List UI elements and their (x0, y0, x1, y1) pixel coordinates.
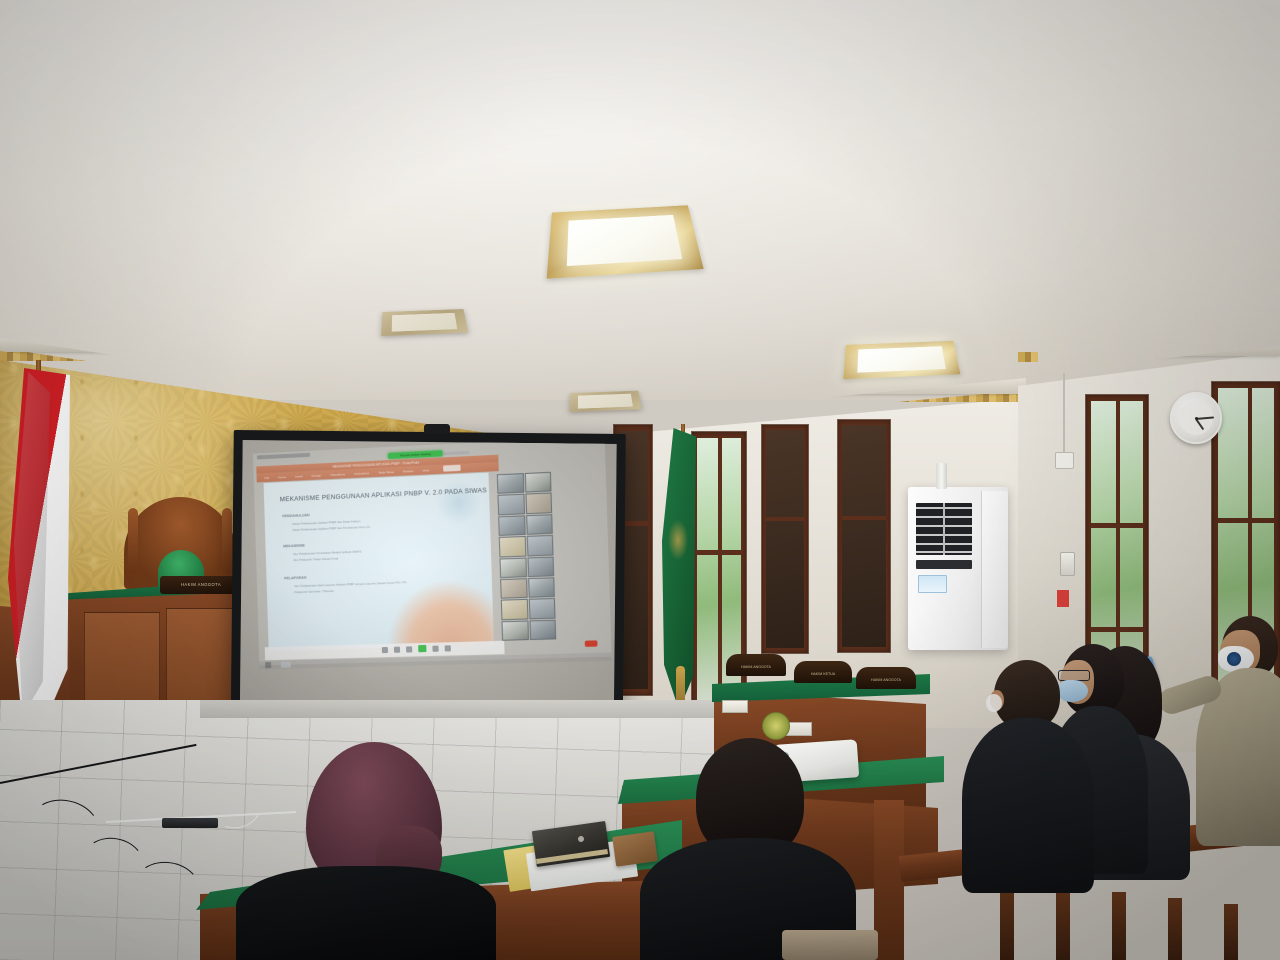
nameplate-hakim-anggota-text: HAKIM ANGGOTA (162, 582, 240, 587)
nameplate-left-text: HAKIM ANGGOTA (727, 665, 785, 669)
person-dark-shirt-body (962, 718, 1094, 893)
mask-logo-icon (1227, 652, 1241, 666)
bench-label-plate-1 (722, 700, 748, 713)
power-strip[interactable] (162, 818, 218, 828)
ac-side-panel (981, 491, 1008, 648)
nameplate-right-text: HAKIM ANGGOTA (857, 678, 915, 682)
flag-court-emblem (668, 520, 688, 560)
ac-pipe (936, 463, 947, 489)
ceiling-light-1 (547, 205, 704, 278)
person-khaki-uniform (1196, 616, 1280, 846)
person-dark-shirt-mask-strap (986, 694, 1002, 712)
railing-baluster-2 (1056, 886, 1070, 960)
screen-camera-mount (424, 424, 450, 434)
ceiling-light-3 (381, 309, 468, 336)
railing-baluster-4 (1168, 898, 1182, 960)
railing-baluster-5 (1224, 904, 1238, 960)
person-hijab-body (236, 866, 496, 960)
floor-baseboard (200, 700, 760, 718)
ac-control-panel[interactable] (916, 560, 972, 569)
window-3 (838, 420, 890, 652)
railing-baluster-3 (1112, 892, 1126, 960)
nameplate-center-text: HAKIM KETUA (795, 672, 851, 676)
conduit-pipe (1063, 373, 1065, 453)
window-2 (762, 425, 808, 653)
clock-center-pin (1195, 417, 1198, 420)
ceiling-light-4 (570, 391, 642, 412)
wall-clock (1170, 392, 1222, 444)
person-hijab (236, 742, 496, 960)
ceiling-light-2 (843, 341, 960, 379)
ac-vent (916, 503, 972, 555)
bench-court-emblem (762, 712, 790, 740)
person-foreground-center (640, 738, 856, 960)
chair-carving-left (128, 508, 138, 574)
chair-back-foreground (782, 930, 878, 960)
right-railing-post (874, 800, 904, 960)
cornice-gold-right (1018, 352, 1038, 362)
ac-energy-label (918, 575, 947, 593)
screenshot-root: HAKIM ANGGOTA You are screen sharing (0, 0, 1280, 960)
air-conditioner (908, 487, 1008, 650)
person-dark-shirt (962, 660, 1094, 890)
chair-carving-right (222, 508, 232, 574)
red-tag (1057, 590, 1069, 607)
wall-junction-box (1055, 452, 1074, 469)
wall-phone[interactable] (1060, 552, 1075, 576)
ceiling-highlight (0, 0, 1280, 400)
